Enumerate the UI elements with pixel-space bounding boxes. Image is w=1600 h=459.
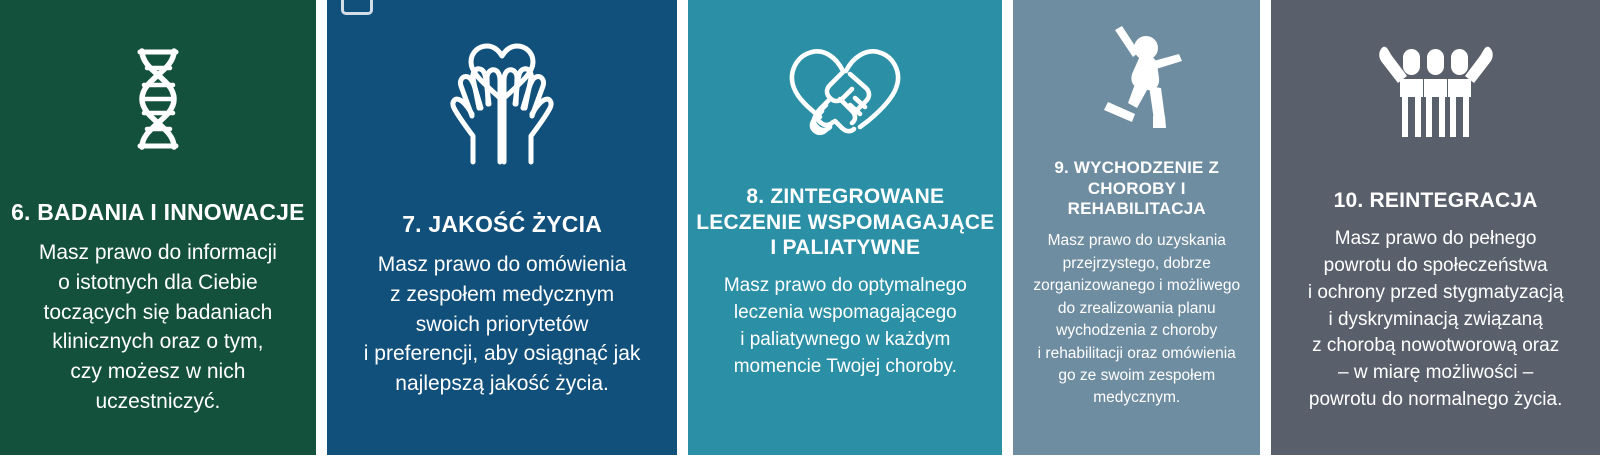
card-body: Masz prawo do optymalnego leczenia wspom… [688, 273, 1002, 381]
rights-infographic-strip: 6. BADANIA I INNOWACJE Masz prawo do inf… [0, 0, 1600, 459]
card-reintegracja[interactable]: 10. REINTEGRACJA Masz prawo do pełnego p… [1271, 0, 1600, 455]
card-zintegrowane-leczenie[interactable]: 8. ZINTEGROWANE LECZENIE WSPOMAGAJĄCE I … [688, 0, 1002, 455]
dna-helix-icon [0, 44, 316, 162]
card-body: Masz prawo do omówienia z zespołem medyc… [327, 250, 678, 399]
card-badania-i-innowacje[interactable]: 6. BADANIA I INNOWACJE Masz prawo do inf… [0, 0, 316, 455]
card-divider [316, 0, 327, 455]
card-divider [1002, 0, 1013, 455]
card-body: Masz prawo do pełnego powrotu do społecz… [1271, 226, 1600, 415]
handshake-heart-icon [688, 42, 1002, 144]
card-body: Masz prawo do informacji o istotnych dla… [0, 238, 316, 417]
card-body: Masz prawo do uzyskania przejrzystego, d… [1013, 230, 1260, 410]
card-title: 7. JAKOŚĆ ŻYCIA [327, 210, 678, 238]
card-title: 6. BADANIA I INNOWACJE [0, 198, 316, 226]
hands-holding-heart-icon [327, 40, 678, 168]
card-divider [677, 0, 688, 455]
card-divider [1260, 0, 1271, 455]
three-people-raised-arms-icon [1271, 40, 1600, 140]
card-jakosc-zycia[interactable]: 7. JAKOŚĆ ŻYCIA Masz prawo do omówienia … [327, 0, 678, 455]
jumping-person-icon [1013, 26, 1260, 130]
card-wychodzenie-z-choroby[interactable]: 9. WYCHODZENIE Z CHOROBY I REHABILITACJA… [1013, 0, 1260, 455]
card-title: 8. ZINTEGROWANE LECZENIE WSPOMAGAJĄCE I … [688, 184, 1002, 261]
card-title: 9. WYCHODZENIE Z CHOROBY I REHABILITACJA [1013, 158, 1260, 220]
clipped-top-icon [341, 0, 373, 15]
card-title: 10. REINTEGRACJA [1271, 188, 1600, 214]
